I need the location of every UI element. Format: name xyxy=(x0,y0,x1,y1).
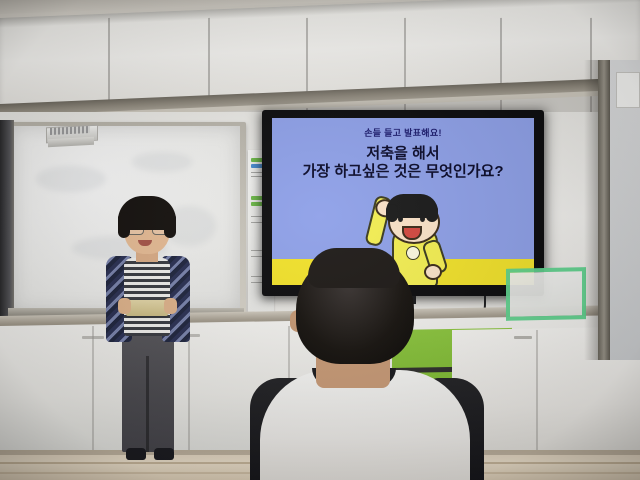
student-presenting xyxy=(96,196,206,480)
presenter-shoe xyxy=(154,448,174,460)
presenter-shoe xyxy=(126,448,146,460)
structural-post xyxy=(598,60,610,360)
presenter-hand xyxy=(164,298,177,314)
whiteboard-smudge xyxy=(36,166,106,192)
slide-title-line2: 가장 하고싶은 것은 무엇인가요? xyxy=(272,160,534,181)
whiteboard-smudge xyxy=(132,152,192,172)
student-seated-back-view xyxy=(250,252,480,480)
whiteboard-side-panel xyxy=(0,120,14,320)
posted-note xyxy=(616,72,640,108)
cabinet-handle[interactable] xyxy=(514,336,532,339)
presenter-paper-note xyxy=(126,300,168,316)
presenter-hair-side xyxy=(164,212,176,238)
audience-hair-top xyxy=(308,248,400,288)
presenter-pant-seam xyxy=(146,356,149,452)
presenter-hand xyxy=(118,298,131,314)
classroom-photo: 손들 들고 발표해요! 저축을 해서 가장 하고싶은 것은 무엇인가요? xyxy=(0,0,640,480)
cabinet-seam xyxy=(500,18,502,116)
slide-top-line: 손들 들고 발표해요! xyxy=(272,126,534,139)
cartoon-hair-side xyxy=(386,204,398,222)
cabinet-seam xyxy=(536,330,538,460)
cartoon-hair-side xyxy=(426,204,438,222)
green-framed-tray xyxy=(506,267,586,321)
presenter-striped-shirt xyxy=(124,258,170,336)
presenter-hair-side xyxy=(118,212,130,238)
cabinet-seam xyxy=(92,326,94,456)
